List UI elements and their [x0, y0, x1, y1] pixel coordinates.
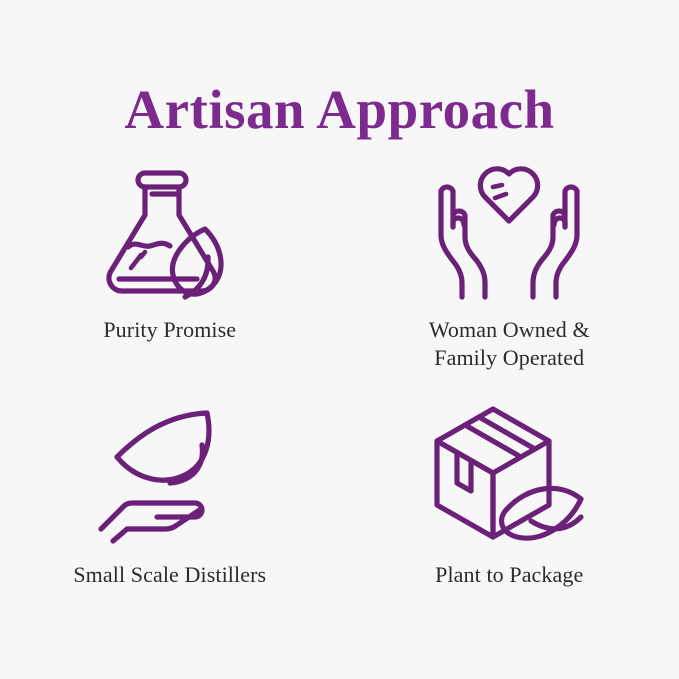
artisan-approach-panel: Artisan Approach — [0, 0, 679, 679]
flask-leaf-icon — [90, 160, 250, 300]
feature-card-plant-to-package: Plant to Package — [340, 395, 679, 640]
feature-label: Small Scale Distillers — [73, 561, 266, 589]
feature-label-line2: Family Operated — [429, 344, 590, 372]
hand-holding-leaf-icon — [90, 405, 250, 545]
package-box-leaf-icon — [429, 405, 589, 545]
feature-label-line1: Small Scale Distillers — [73, 562, 266, 587]
feature-label: Woman Owned & Family Operated — [429, 316, 590, 372]
feature-card-small-scale-distillers: Small Scale Distillers — [0, 395, 340, 640]
features-grid: Purity Promise — [0, 150, 679, 640]
feature-label-line1: Plant to Package — [435, 562, 583, 587]
page-title: Artisan Approach — [124, 81, 554, 139]
feature-label: Purity Promise — [103, 316, 236, 344]
feature-label-line1: Woman Owned & — [429, 317, 590, 342]
feature-label-line1: Purity Promise — [103, 317, 236, 342]
feature-label: Plant to Package — [435, 561, 583, 589]
feature-card-woman-owned: Woman Owned & Family Operated — [340, 150, 679, 395]
feature-card-purity-promise: Purity Promise — [0, 150, 340, 395]
hands-holding-heart-icon — [429, 160, 589, 300]
